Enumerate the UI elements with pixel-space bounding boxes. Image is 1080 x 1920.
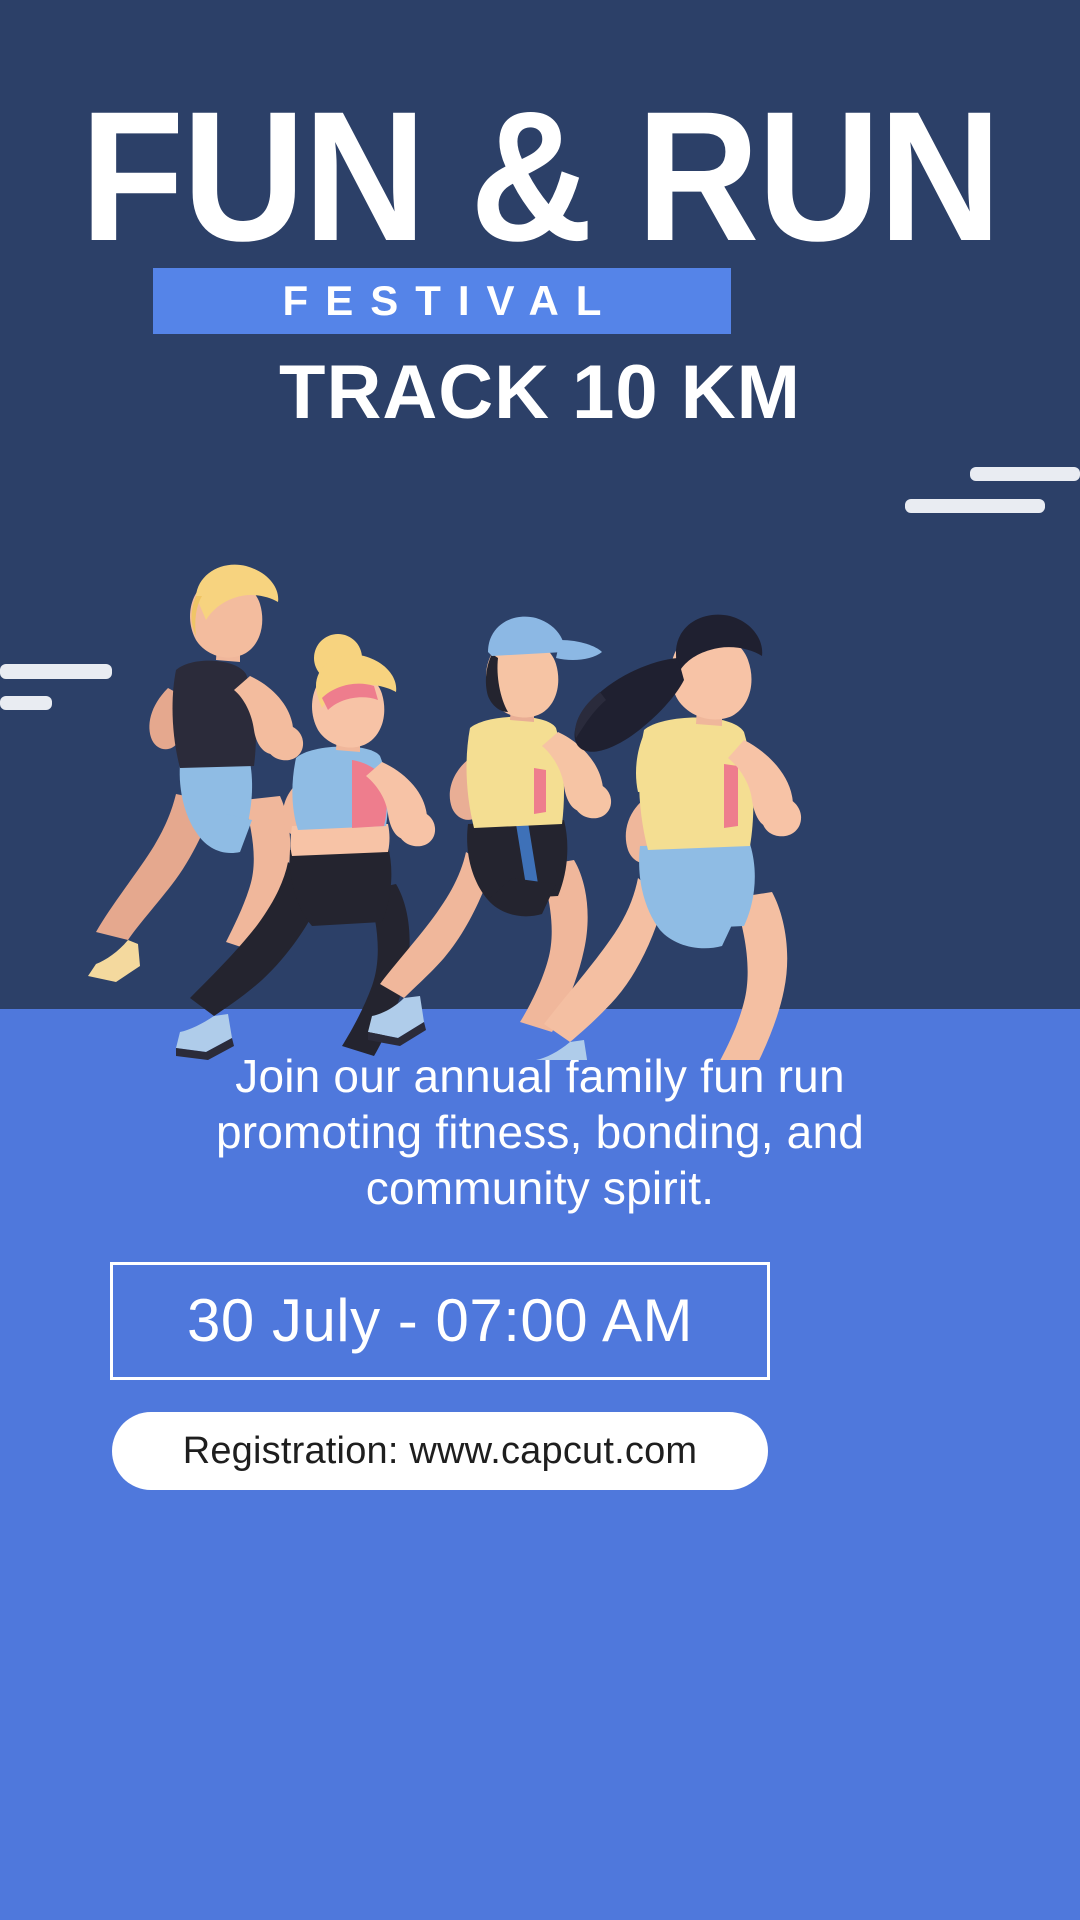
registration-button[interactable]: Registration: www.capcut.com bbox=[112, 1412, 768, 1490]
registration-label: Registration: www.capcut.com bbox=[183, 1432, 698, 1470]
blurb-line-3: community spirit. bbox=[90, 1160, 990, 1216]
speed-line-right-1 bbox=[970, 467, 1080, 481]
event-date-box: 30 July - 07:00 AM bbox=[110, 1262, 770, 1380]
page-title: FUN & RUN bbox=[43, 0, 1037, 266]
speed-line-right-2 bbox=[905, 499, 1045, 513]
blurb-paragraph: Join our annual family fun run promoting… bbox=[90, 1048, 990, 1216]
poster-canvas: FUN & RUN FESTIVAL TRACK 10 KM Join our … bbox=[0, 0, 1080, 1920]
runner-4 bbox=[532, 615, 801, 1060]
subtitle-track-distance: TRACK 10 KM bbox=[0, 355, 1080, 431]
speed-line-left-2 bbox=[0, 696, 52, 710]
speed-line-left-1 bbox=[0, 664, 112, 679]
poster-header: FUN & RUN bbox=[0, 0, 1080, 266]
blurb-line-2: promoting fitness, bonding, and bbox=[90, 1104, 990, 1160]
four-runners-illustration bbox=[0, 500, 1080, 1060]
event-date-label: 30 July - 07:00 AM bbox=[187, 1291, 693, 1351]
festival-label: FESTIVAL bbox=[266, 280, 619, 322]
